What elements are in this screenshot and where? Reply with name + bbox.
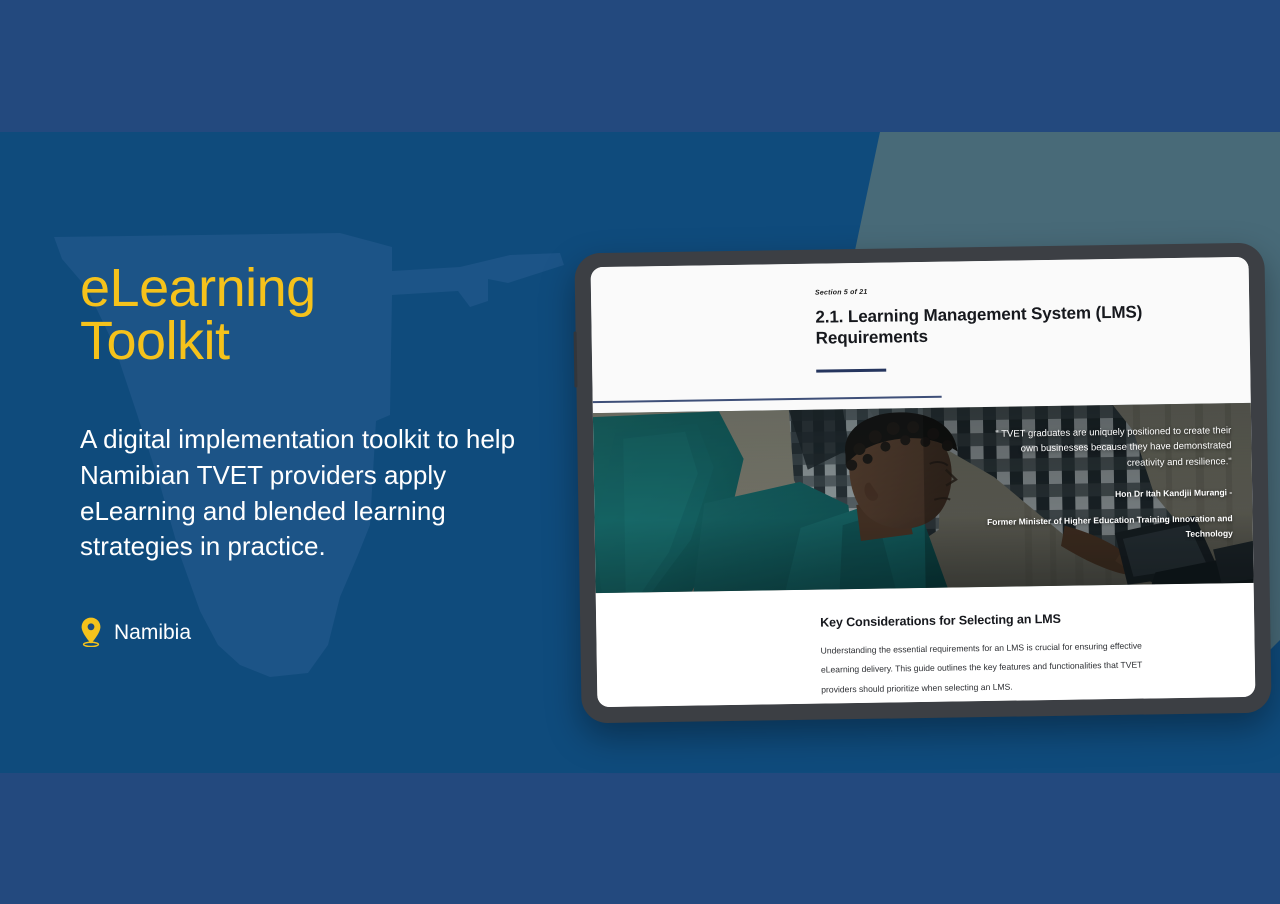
quote-text: " TVET graduates are uniquely positioned… [981,423,1232,473]
document-title: 2.1. Learning Management System (LMS) Re… [815,301,1200,350]
promo-banner: eLearning Toolkit A digital implementati… [0,0,1280,904]
location-label: Namibia [114,622,191,643]
tablet-screen: Section 5 of 21 2.1. Learning Management… [591,257,1256,707]
body-heading: Key Considerations for Selecting an LMS [820,610,1204,630]
tablet-device-mockup: Section 5 of 21 2.1. Learning Management… [574,243,1271,724]
hero-quote-block: " TVET graduates are uniquely positioned… [981,423,1233,546]
quote-role: Former Minister of Higher Education Trai… [983,511,1233,546]
body-paragraph: Understanding the essential requirements… [820,636,1151,699]
document-header: Section 5 of 21 2.1. Learning Management… [591,257,1251,413]
reading-progress-bar [593,391,1251,403]
background-band-bottom [0,773,1280,904]
hero-content: eLearning Toolkit A digital implementati… [80,262,560,647]
title-accent-rule [816,368,886,372]
document-hero-image: " TVET graduates are uniquely positioned… [593,403,1254,593]
location-pin-icon [80,617,102,647]
page-title: eLearning Toolkit [80,262,560,368]
section-counter: Section 5 of 21 [815,284,1199,297]
location-row: Namibia [80,565,560,647]
reading-progress-fill [593,396,942,403]
quote-author: Hon Dr Itah Kandjii Murangi - [982,487,1232,501]
document-body: Key Considerations for Selecting an LMS … [596,583,1256,707]
background-band-top [0,0,1280,132]
page-subtitle: A digital implementation toolkit to help… [80,368,550,566]
